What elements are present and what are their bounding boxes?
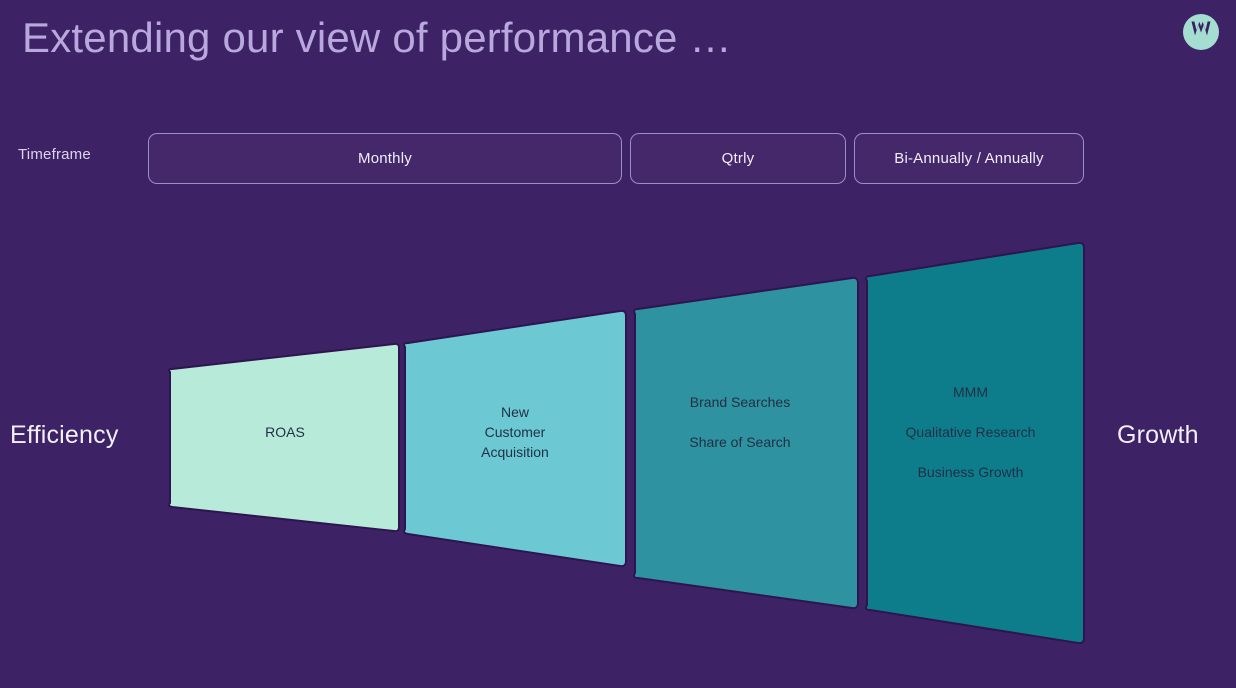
axis-label-growth: Growth <box>1117 421 1199 450</box>
funnel-segment-mmm[interactable] <box>866 243 1084 643</box>
funnel-segment-brand-searches[interactable] <box>634 278 858 608</box>
slide-canvas: Extending our view of performance … Time… <box>0 0 1236 688</box>
axis-label-efficiency: Efficiency <box>10 421 119 450</box>
funnel-segment-roas[interactable] <box>169 344 399 531</box>
funnel-segment-new-customer-acquisition[interactable] <box>404 311 626 566</box>
funnel-diagram <box>0 0 1236 688</box>
